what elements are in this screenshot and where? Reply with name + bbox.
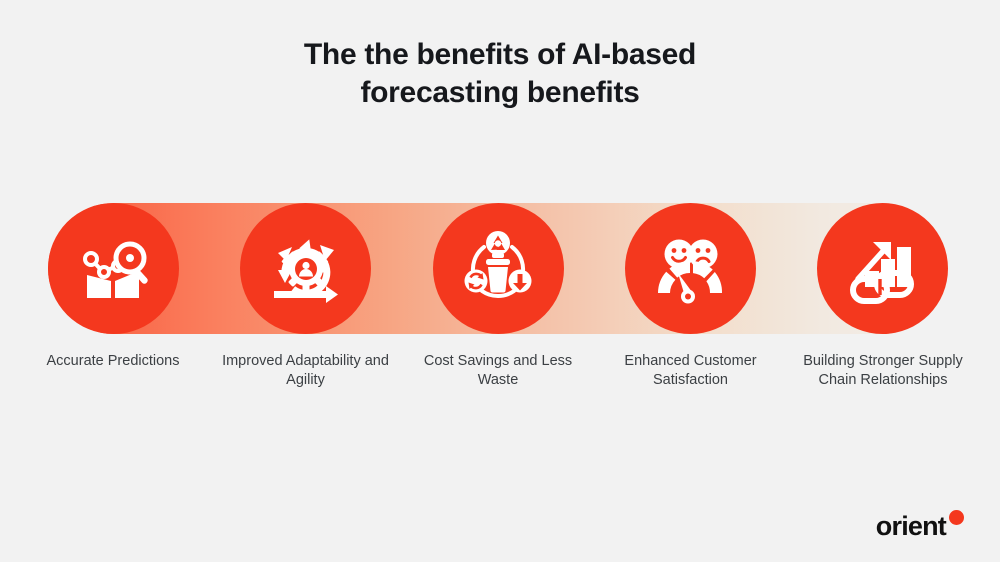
logo-dot-icon: [949, 510, 964, 525]
gear-person-arrows-icon: [268, 231, 344, 307]
chart-magnifier-icon: [77, 232, 151, 306]
benefit-label-accurate-predictions: Accurate Predictions: [18, 352, 208, 371]
benefit-circle-cost-savings[interactable]: [433, 203, 564, 334]
benefit-circle-adaptability-agility[interactable]: [240, 203, 371, 334]
benefit-label-customer-satisfaction: Enhanced Customer Satisfaction: [596, 352, 786, 391]
benefit-circle-customer-satisfaction[interactable]: [625, 203, 756, 334]
growth-chain-link-icon: [845, 231, 921, 307]
page-title-container: The the benefits of AI-based forecasting…: [0, 36, 1000, 111]
logo-wordmark: orient: [876, 513, 946, 540]
benefit-circle-supply-chain[interactable]: [817, 203, 948, 334]
slide-canvas: The the benefits of AI-based forecasting…: [0, 0, 1000, 562]
trash-recycle-icon: [460, 231, 536, 307]
page-title: The the benefits of AI-based forecasting…: [240, 36, 760, 111]
benefit-label-adaptability-agility: Improved Adaptability and Agility: [211, 352, 401, 391]
satisfaction-gauge-faces-icon: [652, 231, 728, 307]
orient-logo[interactable]: orient: [876, 513, 964, 540]
benefit-label-supply-chain: Building Stronger Supply Chain Relations…: [788, 352, 978, 391]
benefit-labels-row: Accurate Predictions Improved Adaptabili…: [48, 352, 948, 391]
benefit-label-cost-savings: Cost Savings and Less Waste: [403, 352, 593, 391]
benefit-circle-accurate-predictions[interactable]: [48, 203, 179, 334]
benefit-icons-row: [48, 203, 948, 334]
